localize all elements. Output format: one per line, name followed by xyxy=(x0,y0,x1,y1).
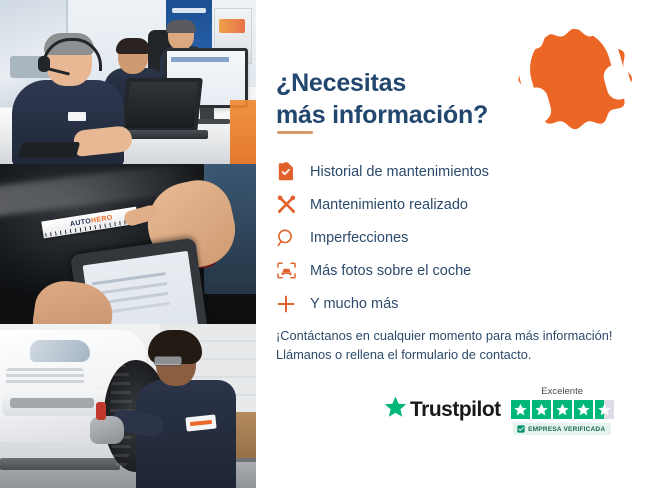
work-glove xyxy=(90,416,124,444)
trustpilot-rating-label: Excelente xyxy=(541,386,583,397)
agent-name-badge xyxy=(68,112,86,121)
tools-cross-icon xyxy=(276,195,296,215)
magnifier-icon xyxy=(276,228,296,248)
car-grille xyxy=(6,368,84,386)
plus-icon xyxy=(276,294,296,314)
trustpilot-rating-block: Excelente xyxy=(511,386,614,435)
list-item: Más fotos sobre el coche xyxy=(276,254,616,287)
document-check-icon xyxy=(276,162,296,182)
trustpilot-brand-label: Trustpilot xyxy=(410,398,501,422)
title-line-1: ¿Necesitas xyxy=(276,69,406,97)
title-divider xyxy=(277,131,313,134)
list-item-label: Mantenimiento realizado xyxy=(310,197,468,213)
car-inspection-ruler-tablet-photo: AUTOHERO xyxy=(0,164,256,324)
trustpilot-widget[interactable]: Trustpilot Excelente xyxy=(384,386,614,435)
list-item: Y mucho más xyxy=(276,287,616,320)
orange-shelf xyxy=(230,100,256,164)
checkbox-check-icon xyxy=(517,425,525,433)
desk-tablet xyxy=(18,142,81,158)
trustpilot-stars xyxy=(511,400,614,419)
call-center-agent-headset-photo xyxy=(0,0,256,164)
promo-card: AUTOHERO xyxy=(0,0,650,488)
bumper-vent xyxy=(10,398,94,408)
trustpilot-star-icon xyxy=(384,396,407,423)
page-title: ¿Necesitas más información? xyxy=(276,67,506,131)
car-scan-icon xyxy=(276,261,296,281)
list-item: Mantenimiento realizado xyxy=(276,188,616,221)
list-item-label: Más fotos sobre el coche xyxy=(310,263,471,279)
title-line-2: más información? xyxy=(276,101,488,129)
laptop-screen xyxy=(121,78,203,132)
trustpilot-logo: Trustpilot xyxy=(384,396,501,423)
star-half xyxy=(595,400,614,419)
colleague-hair xyxy=(166,20,196,33)
car-headlight xyxy=(30,340,90,362)
mechanic-wheel-inspection-photo xyxy=(0,324,256,488)
car-lift-ramp xyxy=(0,458,120,470)
hand-tool xyxy=(96,402,106,420)
list-item-label: Imperfecciones xyxy=(310,230,408,246)
photo-column: AUTOHERO xyxy=(0,0,256,488)
star-filled xyxy=(511,400,530,419)
verified-business-label: EMPRESA VERIFICADA xyxy=(528,426,605,433)
list-item-label: Historial de mantenimientos xyxy=(310,164,489,180)
list-item: Imperfecciones xyxy=(276,221,616,254)
star-filled xyxy=(553,400,572,419)
verified-business-badge: EMPRESA VERIFICADA xyxy=(513,423,611,435)
agent-arm xyxy=(73,125,133,157)
contact-line-2: Llámanos o rellena el formulario de cont… xyxy=(276,345,636,364)
starburst-badge: Estamos encantados de darte más informac… xyxy=(516,26,634,144)
content-panel: Estamos encantados de darte más informac… xyxy=(256,0,650,488)
safety-glasses-icon xyxy=(154,356,182,366)
mechanic-figure xyxy=(134,330,238,488)
star-filled xyxy=(532,400,551,419)
contact-text: ¡Contáctanos en cualquier momento para m… xyxy=(276,326,636,364)
contact-line-1: ¡Contáctanos en cualquier momento para m… xyxy=(276,326,636,345)
star-filled xyxy=(574,400,593,419)
list-item-label: Y mucho más xyxy=(310,296,398,312)
